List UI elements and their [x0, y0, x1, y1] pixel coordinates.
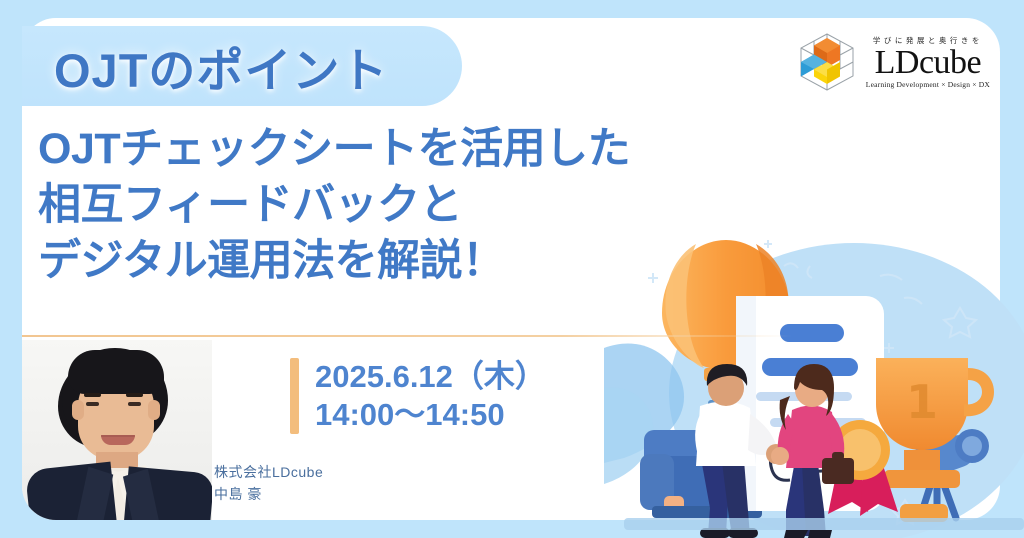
schedule-block: 2025.6.12（木） 14:00〜14:50 [290, 358, 546, 434]
logo-name: LDcube [875, 47, 982, 78]
headline-line-1: OJTチェックシートを活用した [38, 122, 630, 178]
photo-eye-left [86, 402, 99, 406]
photo-eye-right [128, 402, 141, 406]
badge-label: OJTのポイント [54, 32, 388, 101]
speaker-photo [22, 340, 212, 520]
headline-line-3: デジタル運用法を解説！ [38, 234, 630, 290]
photo-ear-left [72, 400, 84, 420]
section-badge: OJTのポイント [22, 26, 462, 106]
speaker-caption: 株式会社LDcube 中島 豪 [214, 462, 323, 505]
photo-ear-right [148, 400, 160, 420]
schedule-accent-bar [290, 358, 299, 434]
trophy-number: 1 [906, 375, 938, 429]
business-illustration: 1 [604, 218, 1024, 538]
headline-line-2: 相互フィードバックと [38, 178, 630, 234]
speaker-name: 中島 豪 [214, 484, 323, 506]
schedule-time: 14:00〜14:50 [315, 396, 546, 434]
cube-icon [798, 32, 856, 92]
floor-line [624, 518, 1024, 530]
ldcube-logo[interactable]: 学びに発展と奥行きを LDcube Learning Development ×… [798, 32, 990, 92]
photo-fringe [68, 350, 164, 394]
photo-brow-right [126, 393, 143, 397]
photo-mouth [101, 435, 135, 445]
logo-subtitle: Learning Development × Design × DX [866, 80, 990, 89]
divider [22, 335, 792, 337]
photo-brow-left [84, 393, 101, 397]
page-title: OJTチェックシートを活用した 相互フィードバックと デジタル運用法を解説！ [38, 122, 630, 290]
schedule-date: 2025.6.12（木） [315, 358, 546, 396]
speaker-company: 株式会社LDcube [214, 462, 323, 484]
